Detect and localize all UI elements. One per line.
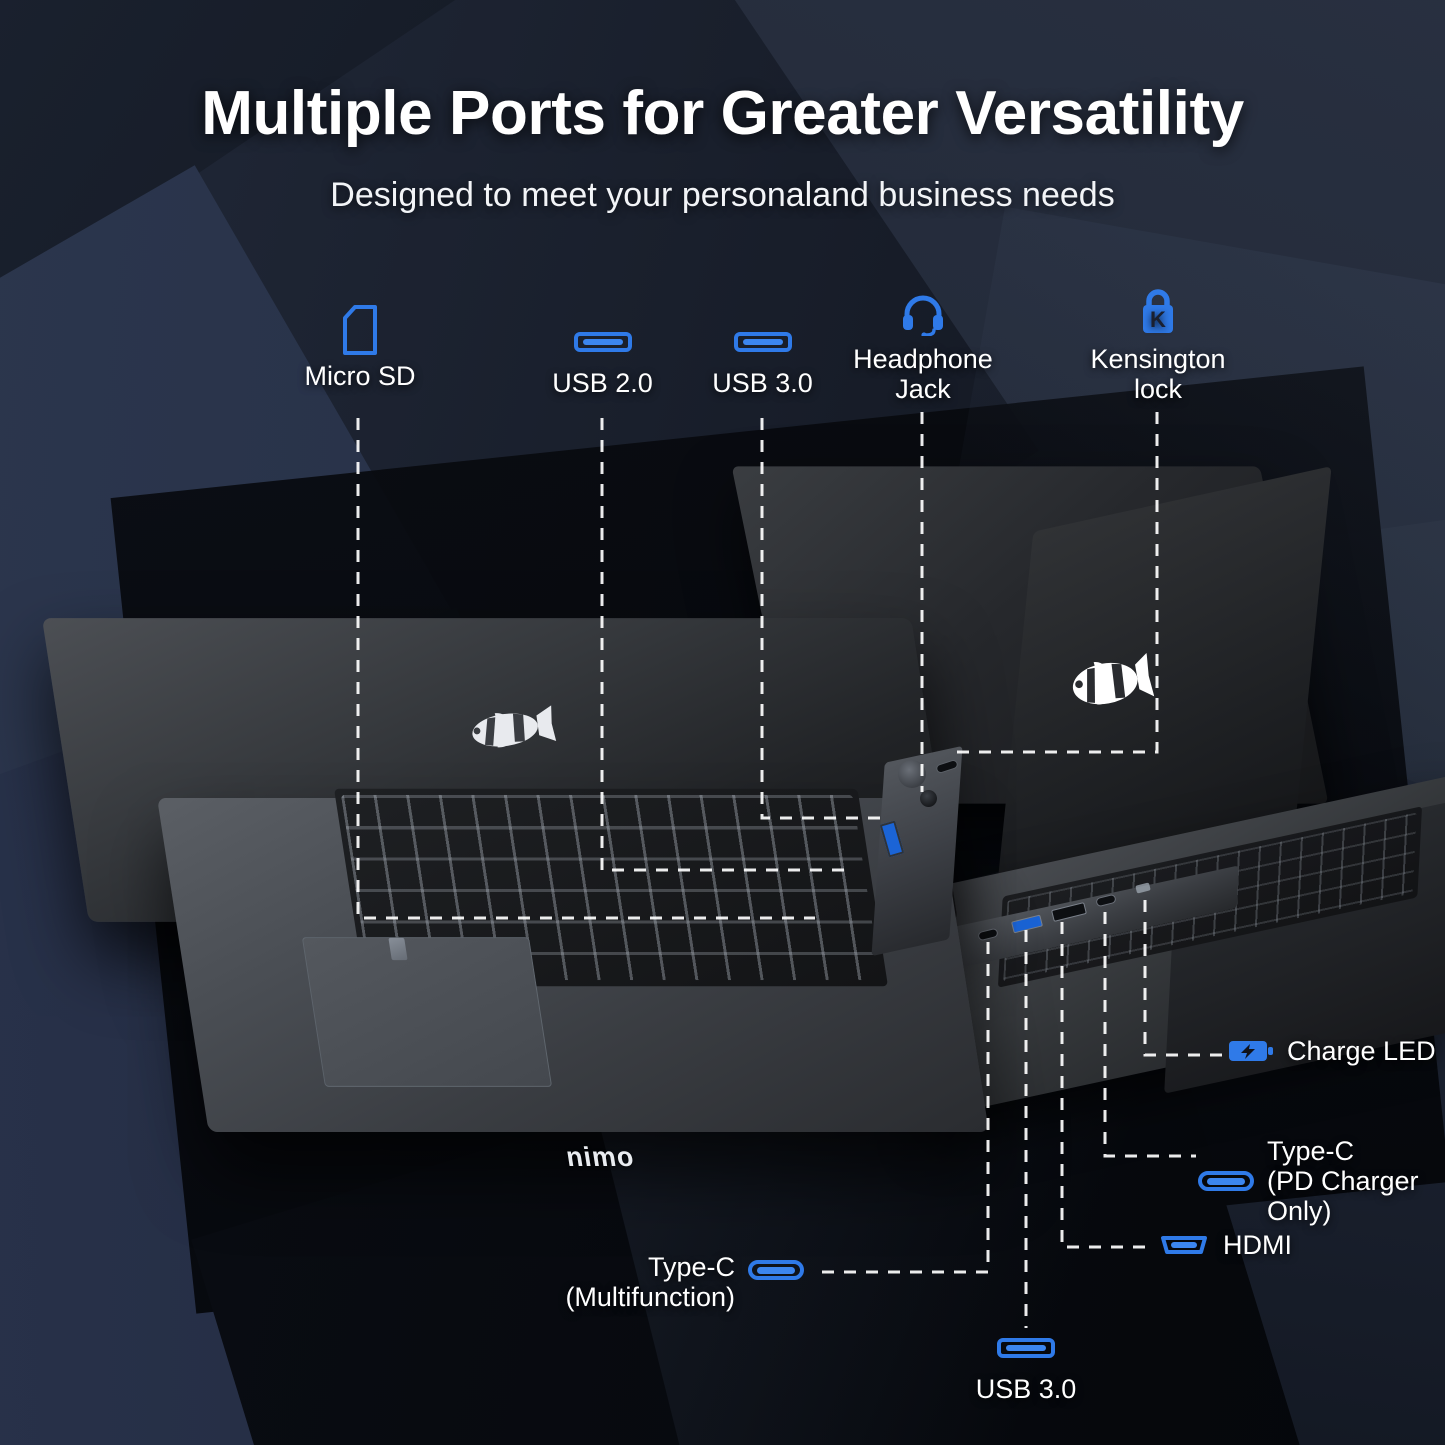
- label-text: Kensington lock: [1090, 344, 1225, 404]
- label-kensington-lock[interactable]: K Kensington lock: [1086, 288, 1230, 404]
- usb-type-c-port-icon: [1198, 1169, 1254, 1193]
- usb-type-c-port-icon: [748, 1258, 804, 1282]
- front-laptop-trackpad: [302, 937, 552, 1087]
- label-text: HDMI: [1223, 1230, 1292, 1260]
- port-headphone-jack: [920, 790, 937, 807]
- label-usb-2-0[interactable]: USB 2.0: [540, 330, 665, 398]
- label-micro-sd[interactable]: Micro SD: [300, 305, 420, 391]
- label-text: USB 2.0: [552, 368, 653, 398]
- label-type-c-multifunction[interactable]: Type-C (Multifunction): [588, 1252, 804, 1312]
- label-text-line1: Type-C (PD Charger Only): [1267, 1136, 1445, 1227]
- label-usb-3-0-top[interactable]: USB 3.0: [700, 330, 825, 398]
- brand-logo-nimo: nimo: [564, 1142, 637, 1173]
- label-hdmi[interactable]: HDMI: [1158, 1230, 1292, 1260]
- label-type-c-pd[interactable]: Type-C (PD Charger Only): [1198, 1136, 1445, 1227]
- infographic-canvas: Multiple Ports for Greater Versatility D…: [0, 0, 1445, 1445]
- label-text: Micro SD: [304, 361, 415, 391]
- hdmi-port-icon: [1158, 1233, 1210, 1257]
- kensington-padlock-icon: K: [1137, 288, 1179, 336]
- label-text: Headphone Jack: [853, 344, 993, 404]
- label-headphone-jack[interactable]: Headphone Jack: [852, 294, 994, 404]
- port-camera-shutter: [898, 760, 926, 788]
- label-usb-3-0-bottom[interactable]: USB 3.0: [963, 1336, 1089, 1404]
- headset-icon: [901, 294, 945, 336]
- usb-a-port-icon: [734, 330, 792, 354]
- usb-a-port-icon: [574, 330, 632, 354]
- micro-sd-card-icon: [341, 305, 379, 355]
- label-text: Charge LED: [1287, 1036, 1436, 1066]
- label-text: USB 3.0: [712, 368, 813, 398]
- label-charge-led[interactable]: Charge LED: [1228, 1036, 1436, 1066]
- label-text: USB 3.0: [976, 1374, 1077, 1404]
- label-text: Type-C (Multifunction): [565, 1252, 735, 1312]
- laptop-illustration: nimo: [0, 0, 1445, 1445]
- battery-charging-icon: [1228, 1038, 1274, 1064]
- fingerprint-sensor-icon: [388, 938, 407, 960]
- svg-text:K: K: [1150, 307, 1166, 332]
- usb-a-port-icon: [997, 1336, 1055, 1360]
